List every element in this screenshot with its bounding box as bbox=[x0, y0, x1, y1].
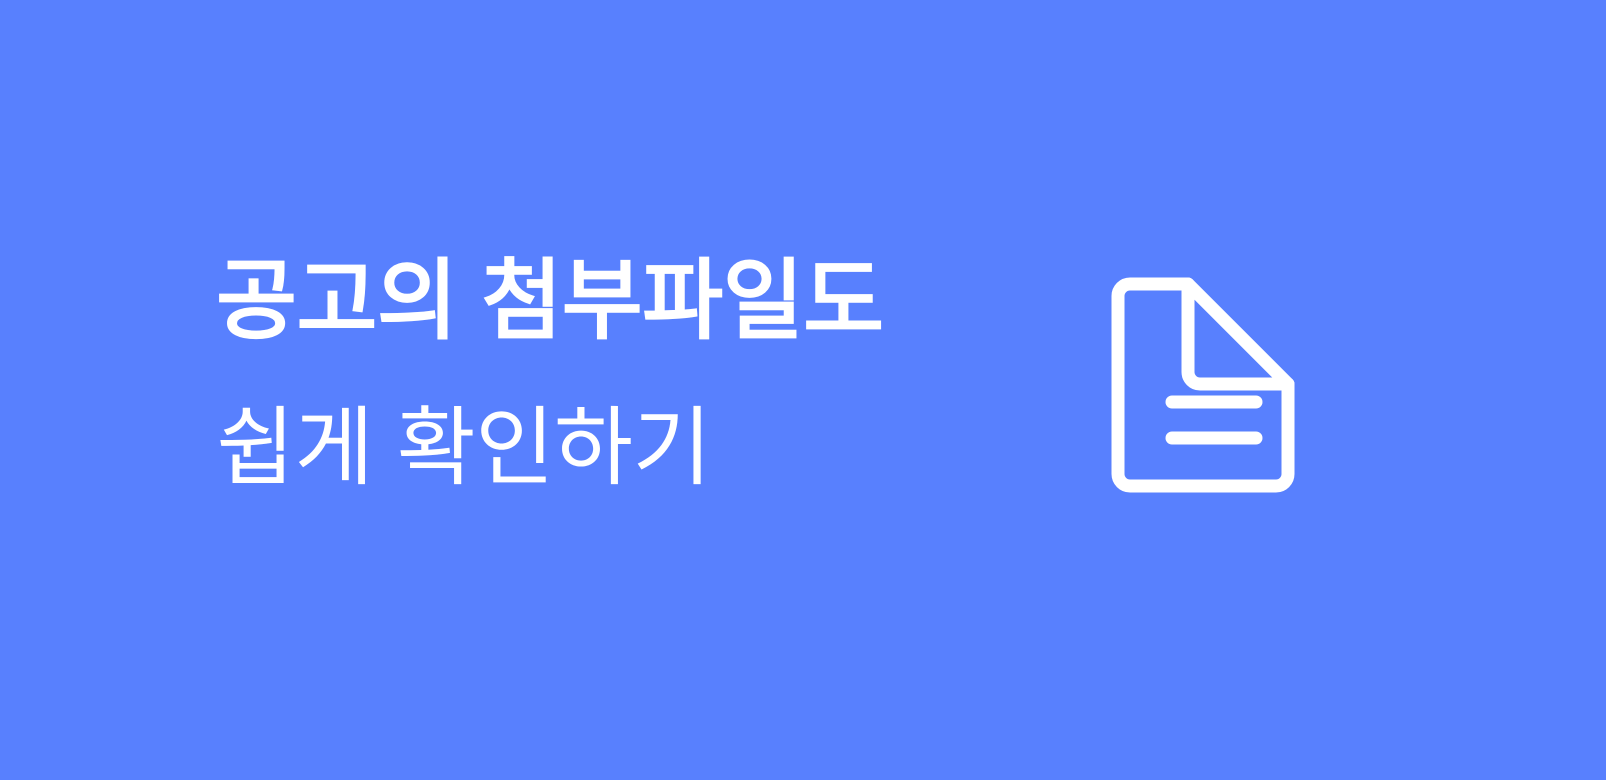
headline-block: 공고의 첨부파일도 쉽게 확인하기 bbox=[216, 246, 976, 502]
document-icon bbox=[1100, 266, 1300, 504]
promo-banner: 공고의 첨부파일도 쉽게 확인하기 bbox=[0, 0, 1606, 780]
document-icon-graphic bbox=[1100, 266, 1300, 504]
headline-line-secondary: 쉽게 확인하기 bbox=[216, 394, 976, 502]
headline-line-primary: 공고의 첨부파일도 bbox=[216, 246, 976, 356]
